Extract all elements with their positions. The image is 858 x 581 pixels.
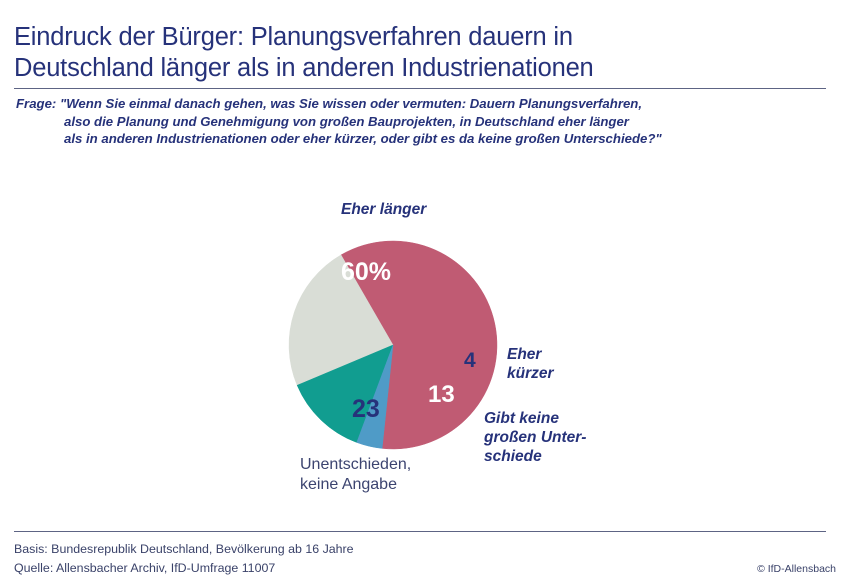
copyright-notice: © IfD-Allensbach <box>757 563 836 575</box>
footer: Basis: Bundesrepublik Deutschland, Bevöl… <box>14 540 834 578</box>
question-line-3: als in anderen Industrienationen oder eh… <box>16 130 816 148</box>
pie-chart-svg <box>268 222 518 472</box>
footer-basis: Basis: Bundesrepublik Deutschland, Bevöl… <box>14 540 834 559</box>
slice-label-eher-kuerzer: Eher kürzer <box>507 345 554 383</box>
slice-label-keine-unterschiede-line-1: Gibt keine <box>484 409 586 428</box>
slice-label-unentschieden: Unentschieden, keine Angabe <box>300 455 411 495</box>
slice-value-eher-laenger: 60% <box>341 258 391 287</box>
slice-label-keine-unterschiede-line-2: großen Unter- <box>484 428 586 447</box>
infographic-page: Eindruck der Bürger: Planungsverfahren d… <box>0 0 858 581</box>
footer-source: Quelle: Allensbacher Archiv, IfD-Umfrage… <box>14 559 834 578</box>
slice-value-eher-kuerzer: 4 <box>464 349 476 373</box>
slice-label-eher-kuerzer-line-2: kürzer <box>507 364 554 383</box>
question-line-2: also die Planung und Genehmigung von gro… <box>16 113 816 131</box>
slice-label-unentschieden-line-2: keine Angabe <box>300 475 411 495</box>
slice-label-keine-unterschiede: Gibt keine großen Unter- schiede <box>484 409 586 466</box>
slice-value-unentschieden: 23 <box>352 395 380 424</box>
survey-question: Frage: "Wenn Sie einmal danach gehen, wa… <box>16 95 816 148</box>
title-line-2: Deutschland länger als in anderen Indust… <box>14 53 834 84</box>
header-divider <box>14 88 826 89</box>
slice-value-keine-unterschiede: 13 <box>428 381 455 409</box>
title-line-1: Eindruck der Bürger: Planungsverfahren d… <box>14 22 834 53</box>
page-title: Eindruck der Bürger: Planungsverfahren d… <box>14 22 834 84</box>
pie-chart: Eher länger Eher kürzer Gibt keine große… <box>0 170 858 520</box>
slice-label-unentschieden-line-1: Unentschieden, <box>300 455 411 475</box>
question-line-1: Frage: "Wenn Sie einmal danach gehen, wa… <box>16 95 816 113</box>
footer-divider <box>14 531 826 532</box>
slice-label-keine-unterschiede-line-3: schiede <box>484 447 586 466</box>
slice-label-eher-laenger: Eher länger <box>341 200 426 219</box>
slice-label-eher-kuerzer-line-1: Eher <box>507 345 554 364</box>
